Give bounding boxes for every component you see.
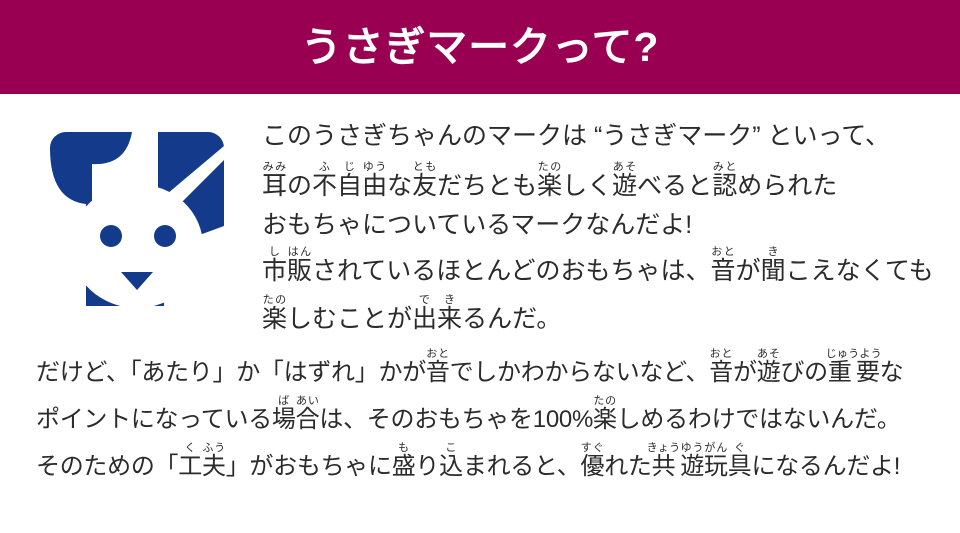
page-title: うさぎマークって? — [301, 27, 659, 68]
text-line-8: そのための「工く夫ふう」がおもちゃに盛もり込こまれると、優すぐれた共きょう遊ゆう… — [36, 440, 952, 479]
text-line-7: ポイントになっている場ば合あいは、そのおもちゃを100%楽たのしめるわけではない… — [36, 393, 952, 432]
text-line-2: 耳みみの不ふ自じ由ゆうな友ともだちとも楽たのしく遊あそべると認みとめられた — [262, 159, 952, 199]
rabbit-icon — [48, 130, 226, 308]
usagi-mark-logo — [48, 130, 226, 308]
text-line-3: おもちゃについているマークなんだよ! — [262, 213, 952, 238]
detail-paragraph: だけど、「あたり」か「はずれ」かが音おとでしかわからないなど、音おとが遊あそびの… — [36, 346, 952, 479]
text-line-4: 市し販はんされているほとんどのおもちゃは、音おとが聞きこえなくても — [262, 244, 952, 284]
slide-body: このうさぎちゃんのマークは “うさぎマーク” といって、 耳みみの不ふ自じ由ゆう… — [0, 94, 960, 533]
text-line-5: 楽たのしむことが出で来きるんだ。 — [262, 292, 952, 332]
slide-header: うさぎマークって? — [0, 0, 960, 94]
text-line-6: だけど、「あたり」か「はずれ」かが音おとでしかわからないなど、音おとが遊あそびの… — [36, 346, 952, 385]
intro-paragraph: このうさぎちゃんのマークは “うさぎマーク” といって、 耳みみの不ふ自じ由ゆう… — [262, 124, 952, 332]
text-line-1: このうさぎちゃんのマークは “うさぎマーク” といって、 — [262, 124, 952, 149]
rabbit-eye-right — [154, 225, 176, 247]
rabbit-eye-left — [100, 225, 122, 247]
